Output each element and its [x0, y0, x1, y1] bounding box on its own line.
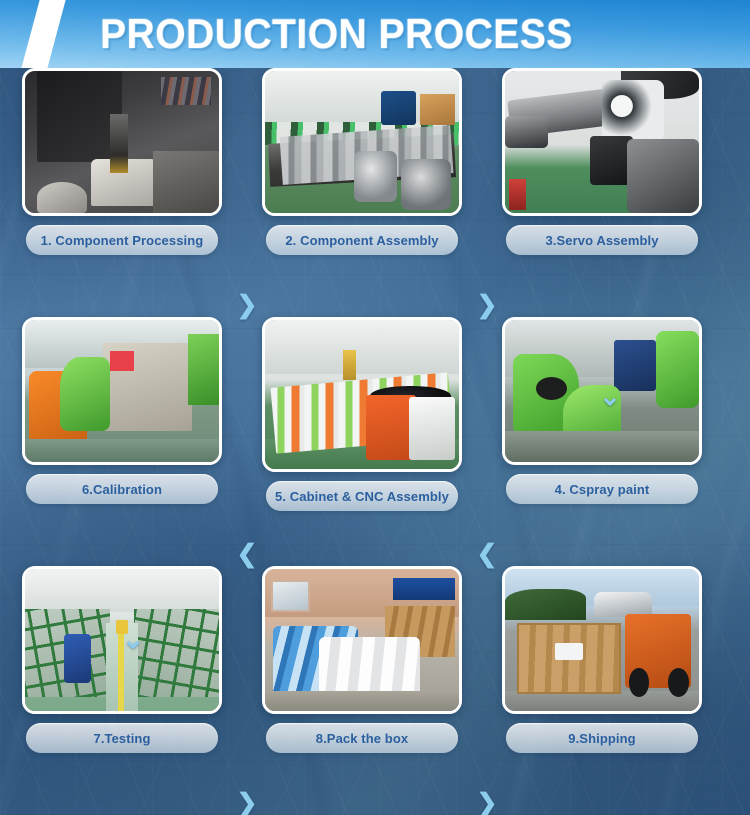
- arrow-right-icon-3: ❯: [236, 790, 258, 815]
- step-label-1[interactable]: 1. Component Processing: [26, 225, 218, 255]
- step-card-3[interactable]: 3.Servo Assembly: [502, 68, 702, 308]
- step-card-5[interactable]: 5. Cabinet & CNC Assembly: [262, 317, 462, 557]
- step-label-6[interactable]: 6.Calibration: [26, 474, 218, 504]
- component-assembly-line-photo: [262, 68, 462, 216]
- arrow-down-icon-1: ⌄: [595, 381, 625, 415]
- step-label-8[interactable]: 8.Pack the box: [266, 723, 458, 753]
- steps-row-2: 6.Calibration 5. Cabinet & CNC Assembly: [0, 317, 750, 566]
- arrow-left-icon-2: ❮: [476, 541, 498, 567]
- shipping-crate-forklift-photo: [502, 566, 702, 714]
- arrow-down-icon-2: ⌄: [118, 624, 148, 658]
- step-label-9[interactable]: 9.Shipping: [506, 723, 698, 753]
- step-card-6[interactable]: 6.Calibration: [22, 317, 222, 557]
- step-card-4[interactable]: 4. Cspray paint: [502, 317, 702, 557]
- step-card-2[interactable]: 2. Component Assembly: [262, 68, 462, 308]
- steps-grid: 1. Component Processing 2. Component Ass…: [0, 68, 750, 815]
- steps-row-1: 1. Component Processing 2. Component Ass…: [0, 68, 750, 317]
- step-label-5[interactable]: 5. Cabinet & CNC Assembly: [266, 481, 458, 511]
- calibration-robot-photo: [22, 317, 222, 465]
- cabinet-cnc-assembly-photo: [262, 317, 462, 472]
- cnc-machining-photo: [22, 68, 222, 216]
- servo-assembly-photo: [502, 68, 702, 216]
- packing-boxes-photo: [262, 566, 462, 714]
- step-card-7[interactable]: 7.Testing: [22, 566, 222, 806]
- arrow-right-icon-2: ❯: [476, 292, 498, 318]
- step-label-4[interactable]: 4. Cspray paint: [506, 474, 698, 504]
- arrow-right-icon-1: ❯: [236, 292, 258, 318]
- step-label-2[interactable]: 2. Component Assembly: [266, 225, 458, 255]
- slash-accent-icon: [18, 0, 69, 68]
- steps-row-3: 7.Testing 8.Pack the box: [0, 566, 750, 815]
- step-label-3[interactable]: 3.Servo Assembly: [506, 225, 698, 255]
- production-process-infographic: PRODUCTION PROCESS 1. Component Processi…: [0, 0, 750, 815]
- step-card-8[interactable]: 8.Pack the box: [262, 566, 462, 806]
- arrow-right-icon-4: ❯: [476, 790, 498, 815]
- arrow-left-icon-1: ❮: [236, 541, 258, 567]
- step-card-1[interactable]: 1. Component Processing: [22, 68, 222, 308]
- step-card-9[interactable]: 9.Shipping: [502, 566, 702, 806]
- step-label-7[interactable]: 7.Testing: [26, 723, 218, 753]
- page-title: PRODUCTION PROCESS: [100, 9, 573, 59]
- header-banner: PRODUCTION PROCESS: [0, 0, 750, 68]
